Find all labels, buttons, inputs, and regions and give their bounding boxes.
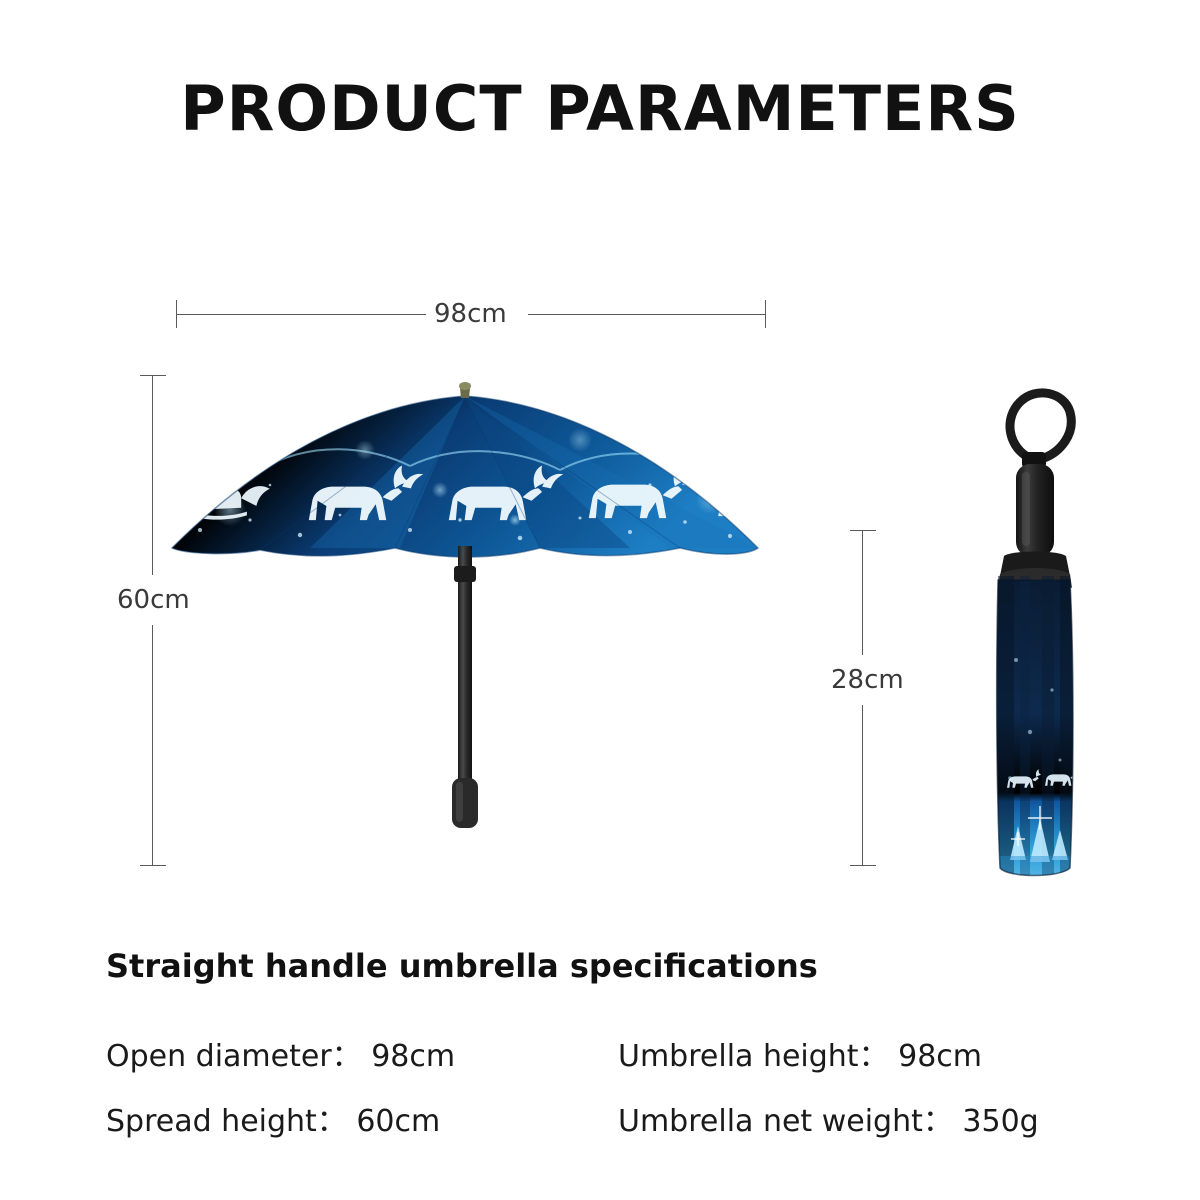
spec-open-diameter: Open diameter： 98cm [106, 1031, 455, 1075]
width-dimension-cap-left [176, 300, 177, 328]
folded-height-dimension-cap-bottom [850, 865, 876, 866]
open-height-dimension-cap-top [140, 375, 166, 376]
page-title: PRODUCT PARAMETERS [0, 78, 1200, 140]
width-dimension-line-left [176, 314, 426, 315]
spec-spread-height: Spread height： 60cm [106, 1096, 440, 1140]
open-height-dimension-line-bottom [152, 625, 153, 865]
specifications-heading: Straight handle umbrella specifications [106, 947, 818, 985]
width-dimension-label: 98cm [434, 299, 507, 329]
product-parameters-page: PRODUCT PARAMETERS [0, 0, 1200, 1200]
folded-height-dimension-label: 28cm [831, 665, 904, 695]
folded-height-dimension-line-bottom [862, 705, 863, 865]
folded-umbrella-image [960, 360, 1110, 900]
width-dimension-line-right [528, 314, 765, 315]
open-height-dimension-cap-bottom [140, 865, 166, 866]
width-dimension-cap-right [765, 300, 766, 328]
spec-umbrella-net-weight: Umbrella net weight： 350g [618, 1096, 1039, 1140]
open-height-dimension-line-top [152, 375, 153, 575]
open-umbrella-image [110, 370, 870, 870]
open-height-dimension-label: 60cm [117, 585, 190, 615]
folded-height-dimension-cap-top [850, 530, 876, 531]
folded-height-dimension-line-top [862, 530, 863, 655]
spec-umbrella-height: Umbrella height： 98cm [618, 1031, 982, 1075]
